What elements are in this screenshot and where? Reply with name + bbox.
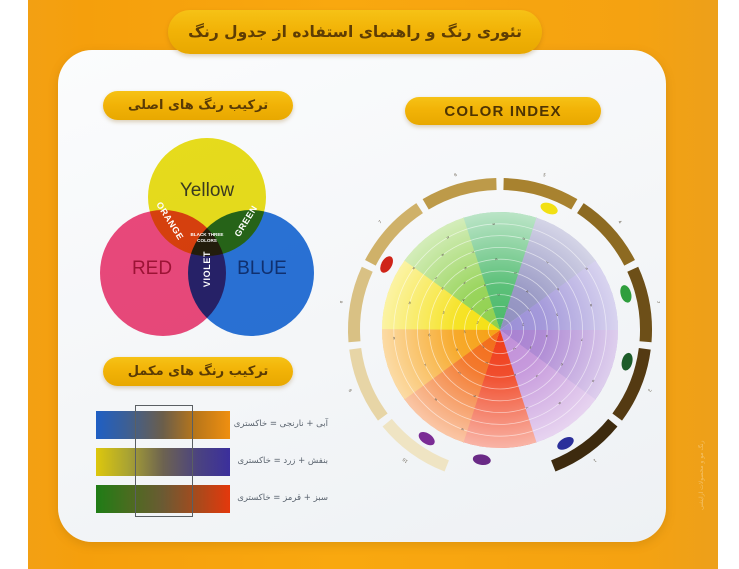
- arc-segment-5: [503, 178, 577, 209]
- arc-segment-label: 4: [617, 219, 623, 225]
- panel-watermark: رنگ مو و محصولات آرایشی: [698, 330, 712, 510]
- venn-circle-blue: [188, 210, 314, 336]
- arc-segment-label: 1: [592, 458, 597, 464]
- wheel-level-tick: 6: [494, 258, 498, 260]
- arc-segment-label: 6: [454, 172, 458, 178]
- gray-result-frame: [135, 405, 193, 517]
- arc-segment-label: 2: [647, 388, 653, 393]
- arc-segment-label: 3: [656, 300, 660, 304]
- arc-segment-label: 8: [340, 300, 344, 304]
- poster-title-badge: تئوری رنگ و راهنمای استفاده از جدول رنگ: [168, 10, 542, 54]
- arc-segment-8: [348, 267, 373, 342]
- wheel-level-tick: 6: [428, 333, 430, 337]
- wheel-level-tick: 9: [492, 223, 496, 225]
- color-wheel-svg: 3692584736925847369258473692584736925847…: [340, 140, 660, 520]
- wheel-level-tick: 4: [546, 334, 548, 338]
- primary-colors-venn-diagram: Yellow RED BLUE ORANGE GREEN VIOLET BLAC…: [96, 138, 306, 343]
- arc-segment-label: 9: [347, 388, 353, 393]
- wheel-level-tick: 9: [393, 336, 395, 340]
- complementary-equation-1: آبی + نارنجی = خاکستری: [200, 419, 328, 429]
- arc-segment-6: [423, 178, 497, 209]
- arc-segment-label: 5: [543, 172, 547, 178]
- dark-green-swatch: [620, 352, 634, 372]
- arc-segment-label: 7: [377, 219, 383, 225]
- primary-colors-badge: ترکیب رنگ های اصلی: [103, 91, 293, 120]
- complementary-equations: آبی + نارنجی = خاکستری بنفش + زرد = خاکس…: [196, 405, 328, 515]
- arc-segment-3: [627, 267, 652, 342]
- green-swatch: [618, 284, 633, 304]
- color-index-badge: COLOR INDEX: [405, 97, 601, 125]
- wheel-level-tick: 7: [581, 337, 583, 341]
- poster-root: رنگ مو و محصولات آرایشی تئوری رنگ و راهن…: [0, 0, 739, 569]
- arc-segment-label: 10: [401, 457, 409, 464]
- violet-swatch: [472, 453, 491, 466]
- complementary-colors-badge: ترکیب رنگ های مکمل: [103, 357, 293, 386]
- wheel-level-tick: 3: [463, 330, 465, 334]
- yellow-swatch: [539, 200, 560, 216]
- color-index-wheel: 3692584736925847369258473692584736925847…: [340, 140, 660, 520]
- wheel-level-tick: 3: [496, 293, 500, 295]
- arc-segment-9: [349, 348, 387, 421]
- complementary-equation-2: بنفش + زرد = خاکستری: [200, 456, 328, 466]
- complementary-equation-3: سبز + قرمز = خاکستری: [200, 493, 328, 503]
